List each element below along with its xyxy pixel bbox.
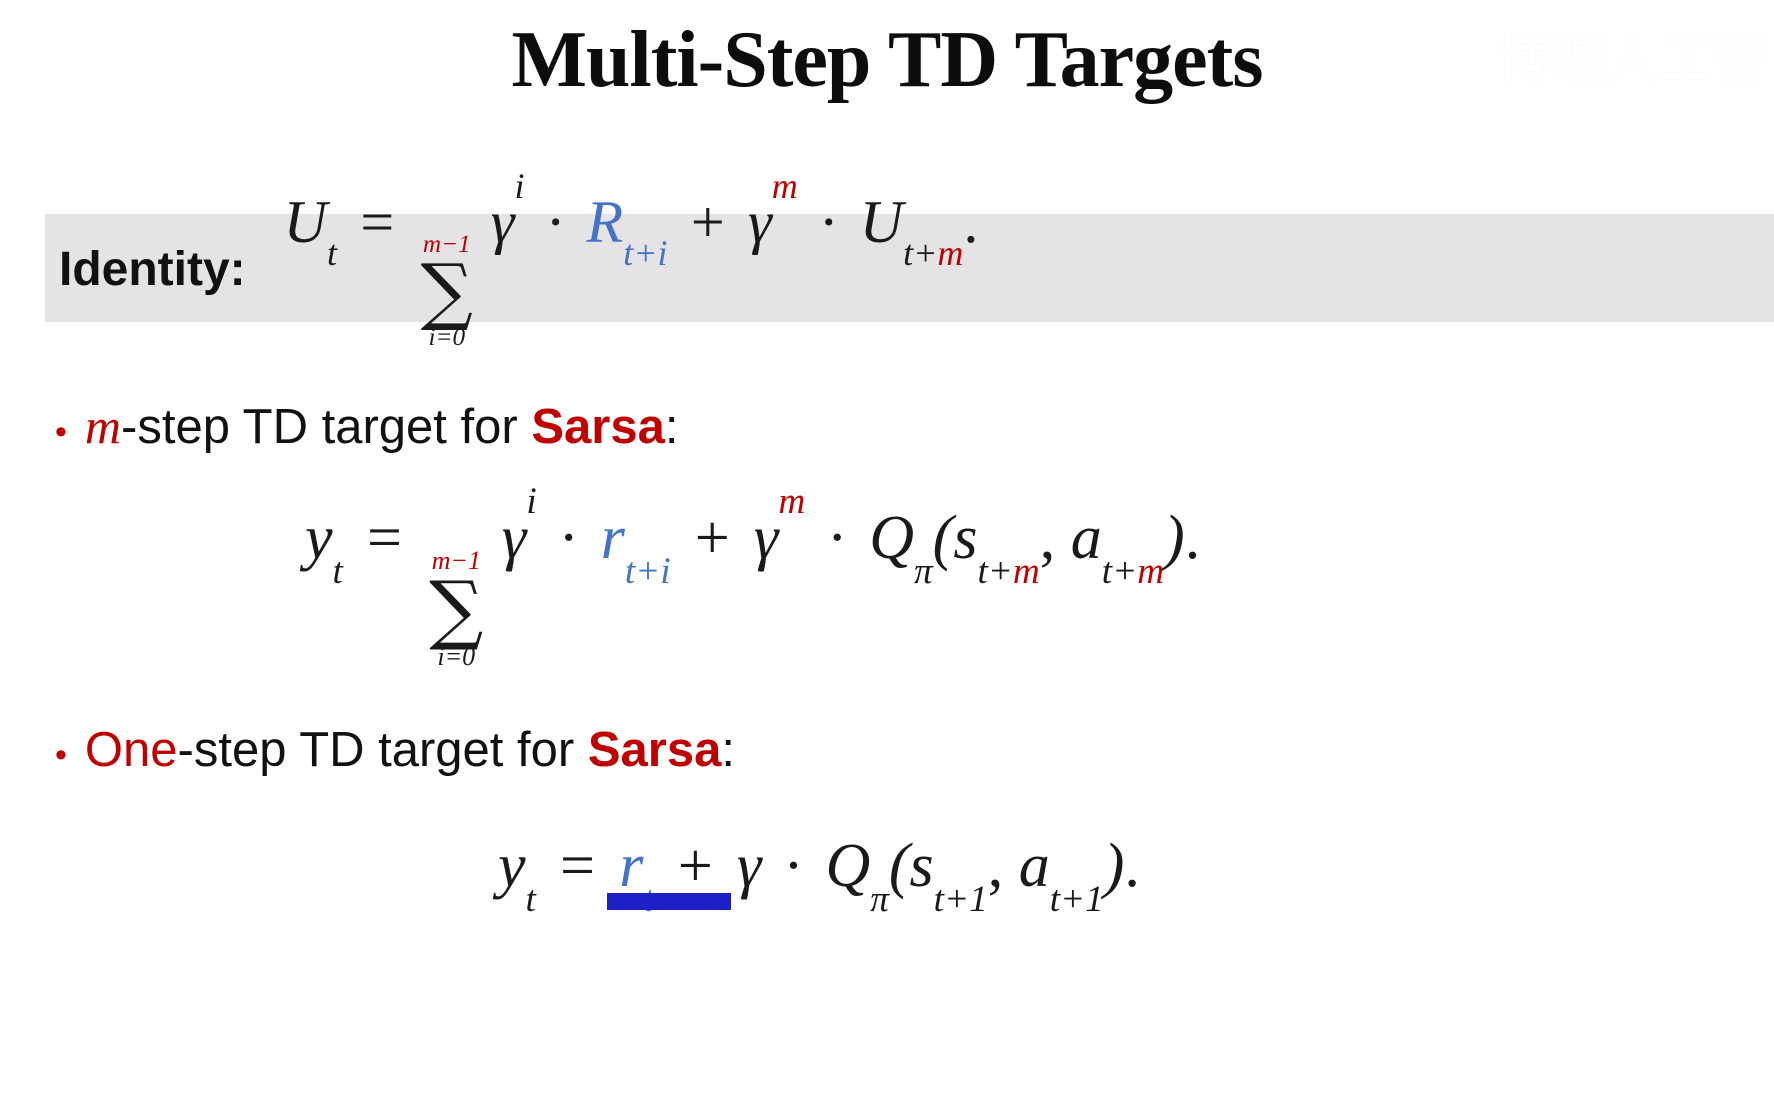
list-item-one-step: • One-step TD target for Sarsa:	[55, 722, 735, 778]
identity-tail: U	[860, 189, 903, 255]
identity-tail-sub: t+m	[903, 233, 963, 273]
identity-reward: R	[587, 189, 624, 255]
eq1-action-sub-base: t+	[1102, 551, 1137, 592]
eq2-gamma: γ	[737, 832, 761, 900]
eq1-gamma-1-exp: i	[526, 481, 536, 522]
sigma-icon: ∑	[429, 572, 483, 648]
eq1-lhs-sub: t	[333, 551, 343, 592]
bullet-text-mid-1: -step TD target for	[121, 400, 531, 454]
eq1-reward-sub: t+i	[625, 551, 671, 592]
eq1-state-sub-red: m	[1013, 551, 1040, 592]
sum-lower-limit: i=0	[437, 644, 475, 670]
identity-plus: +	[683, 189, 734, 255]
eq1-equals: =	[358, 504, 410, 572]
eq1-dot-1: ·	[552, 504, 585, 572]
page-title: Multi-Step TD Targets	[0, 14, 1774, 106]
eq2-state: s	[910, 832, 934, 900]
bullet-dot-icon: •	[55, 738, 67, 772]
identity-gamma-2: γ	[748, 189, 772, 255]
eq2-plus: +	[669, 832, 721, 900]
identity-tail-sub-base: t+	[903, 233, 937, 273]
eq1-qfunction: Q	[869, 504, 914, 572]
bullet-red-one: One	[85, 723, 178, 777]
eq1-state-sub: t+m	[977, 551, 1039, 592]
identity-dot-2: ·	[813, 189, 845, 255]
eq2-comma: ,	[988, 832, 1004, 900]
eq2-equals: =	[551, 832, 603, 900]
identity-reward-sub: t+i	[623, 233, 667, 273]
bullet-text-end-1: :	[665, 400, 679, 454]
eq2-period: .	[1124, 832, 1140, 900]
eq1-period: .	[1185, 504, 1201, 572]
eq1-action-sub: t+m	[1102, 551, 1164, 592]
eq2-action-sub: t+1	[1050, 879, 1104, 920]
identity-label: Identity:	[59, 242, 246, 294]
eq2-reward: r	[619, 832, 643, 900]
highlight-underline-bar	[607, 893, 731, 910]
summation-operator: m−1 ∑ i=0	[421, 232, 473, 350]
eq1-dot-2: ·	[821, 504, 854, 572]
eq1-action: a	[1071, 504, 1102, 572]
eq1-paren-open: (	[933, 504, 954, 572]
identity-band: Identity: Ut = m−1 ∑ i=0 γi · Rt+i + γm …	[45, 214, 1774, 322]
identity-tail-sub-red: m	[937, 233, 963, 273]
identity-gamma-1-exp: i	[515, 166, 525, 206]
identity-equals: =	[352, 189, 403, 255]
eq2-action: a	[1019, 832, 1050, 900]
identity-gamma-2-exp: m	[772, 166, 798, 206]
eq2-qfunction-sub: π	[870, 879, 889, 920]
eq1-gamma-1: γ	[502, 504, 526, 572]
eq2-lhs: y	[498, 832, 526, 900]
eq2-paren-close: )	[1104, 832, 1125, 900]
sigma-icon: ∑	[421, 255, 473, 328]
eq1-state-sub-base: t+	[977, 551, 1012, 592]
eq2-dot: ·	[777, 832, 810, 900]
bullet-label-m-step: m-step TD target for Sarsa:	[85, 398, 679, 455]
eq1-gamma-2: γ	[754, 504, 778, 572]
eq2-state-sub: t+1	[934, 879, 988, 920]
identity-lhs-sub: t	[327, 233, 337, 273]
eq1-state: s	[953, 504, 977, 572]
identity-equation: Ut = m−1 ∑ i=0 γi · Rt+i + γm · Ut+m.	[284, 186, 979, 351]
equation-sarsa-one-step: yt = rt + γ · Qπ(st+1, at+1).	[498, 828, 1140, 904]
eq1-qfunction-sub: π	[914, 551, 933, 592]
identity-dot-1: ·	[540, 189, 572, 255]
eq2-paren-open: (	[889, 832, 910, 900]
bullet-math-m: m	[85, 398, 121, 454]
equation-sarsa-m-step: yt = m−1 ∑ i=0 γi · rt+i + γm · Qπ(st+m,…	[305, 500, 1200, 670]
eq1-action-sub-red: m	[1137, 551, 1164, 592]
identity-period: .	[963, 189, 978, 255]
identity-gamma-1: γ	[491, 189, 515, 255]
identity-lhs: U	[284, 189, 327, 255]
sum-lower-limit: i=0	[428, 325, 465, 350]
keyword-sarsa-1: Sarsa	[531, 400, 665, 454]
eq1-comma: ,	[1040, 504, 1056, 572]
summation-operator: m−1 ∑ i=0	[429, 548, 483, 670]
bullet-dot-icon: •	[55, 415, 67, 449]
bullet-text-end-2: :	[721, 723, 735, 777]
bullet-text-mid-2: -step TD target for	[178, 723, 588, 777]
eq1-gamma-2-exp: m	[778, 481, 805, 522]
list-item-m-step: • m-step TD target for Sarsa:	[55, 398, 678, 455]
eq2-qfunction: Q	[825, 832, 870, 900]
eq1-paren-close: )	[1164, 504, 1185, 572]
eq2-lhs-sub: t	[526, 879, 536, 920]
eq1-lhs: y	[305, 504, 333, 572]
keyword-sarsa-2: Sarsa	[588, 723, 722, 777]
eq1-reward: r	[601, 504, 625, 572]
eq1-plus: +	[686, 504, 738, 572]
bullet-label-one-step: One-step TD target for Sarsa:	[85, 722, 735, 778]
